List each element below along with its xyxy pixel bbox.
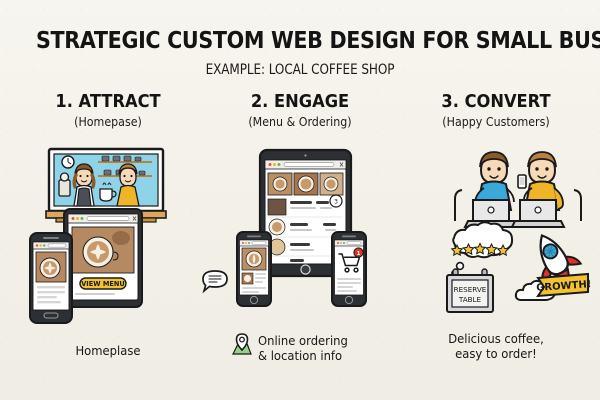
growth-rocket-illustration: GROWTH! (512, 228, 594, 308)
column-3-subheading: (Happy Customers) (406, 115, 586, 129)
phone-mockup-cart[interactable]: 1 (331, 231, 367, 307)
growth-banner: GROWTH! (536, 274, 592, 296)
happy-customers-illustration (448, 148, 588, 230)
speech-bubble-icon (200, 268, 230, 296)
caption-attract: Homeplase (16, 343, 200, 358)
infographic-poster: STRATEGIC CUSTOM WEB DESIGN FOR SMALL BU… (0, 0, 600, 400)
column-convert: 3. CONVERT (Happy Customers) (396, 92, 596, 129)
page-subtitle: EXAMPLE: LOCAL COFFEE SHOP (42, 62, 558, 78)
page-title: STRATEGIC CUSTOM WEB DESIGN FOR SMALL BU… (36, 26, 564, 54)
caption-convert: Delicious coffee, easy to order! (404, 331, 588, 361)
column-1-heading: 1. ATTRACT (15, 92, 201, 112)
gallery-badge-number: 3 (334, 198, 338, 205)
phone-mockup-browse[interactable] (236, 231, 272, 307)
cart-badge-number: 1 (357, 251, 361, 257)
column-2-heading: 2. ENGAGE (207, 92, 393, 112)
column-1-subheading: (Homepase) (18, 115, 198, 129)
phone-mockup-homepage[interactable] (29, 232, 73, 324)
column-2-subheading: (Menu & Ordering) (210, 115, 390, 129)
column-3-heading: 3. CONVERT (403, 92, 589, 112)
column-engage: 2. ENGAGE (Menu & Ordering) (200, 92, 400, 129)
view-menu-button-label: VIEW MENU (81, 280, 125, 288)
tablet-mockup-homepage[interactable]: VIEW MENU (63, 208, 143, 308)
reserve-table-sign: RESERVE TABLE (443, 267, 497, 315)
column-attract: 1. ATTRACT (Homepase) (8, 92, 208, 129)
reserve-sign-line1: RESERVE (454, 285, 487, 294)
caption-engage: Online ordering & location info (258, 333, 396, 363)
reserve-sign-line2: TABLE (458, 295, 482, 304)
map-pin-icon (231, 333, 253, 359)
